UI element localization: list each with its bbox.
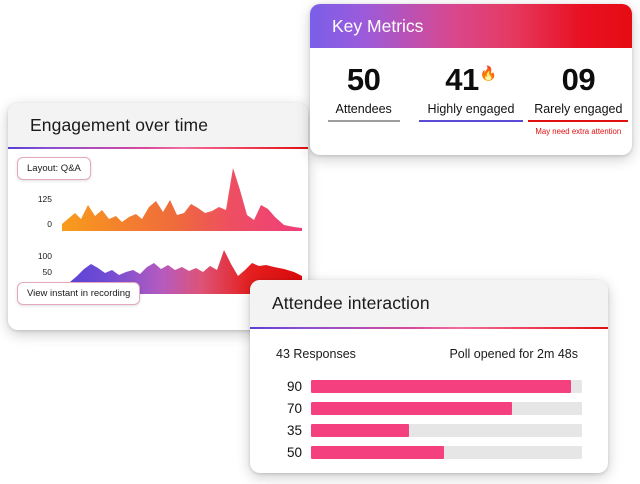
metric-highly-engaged: 41 🔥 Highly engaged (417, 64, 524, 155)
poll-bar-value: 35 (276, 423, 302, 438)
metric-rarely-engaged-label: Rarely engaged (534, 102, 622, 116)
attendee-interaction-card: Attendee interaction 43 Responses Poll o… (250, 280, 608, 473)
poll-bar-fill (311, 380, 571, 393)
fire-icon: 🔥 (480, 66, 497, 80)
attendee-card-title: Attendee interaction (272, 293, 430, 314)
metric-attendees-value: 50 (347, 64, 380, 95)
view-instant-in-recording-button[interactable]: View instant in recording (17, 282, 140, 305)
attendee-card-body: 43 Responses Poll opened for 2m 48s 90 7… (250, 329, 608, 460)
key-metrics-header: Key Metrics (310, 4, 632, 48)
metric-rarely-engaged-underline (528, 120, 628, 122)
poll-bar-value: 90 (276, 379, 302, 394)
metric-highly-engaged-label: Highly engaged (428, 102, 515, 116)
bottom-chart-tick-50: 50 (26, 267, 52, 277)
poll-bar-row: 90 (276, 379, 582, 394)
poll-bar-track (311, 380, 582, 393)
metric-attendees-label: Attendees (336, 102, 392, 116)
top-chart-tick-0: 0 (26, 219, 52, 229)
top-area-chart (62, 163, 302, 231)
key-metrics-card: Key Metrics 50 Attendees 41 🔥 Highly eng… (310, 4, 632, 155)
poll-bar-value: 70 (276, 401, 302, 416)
poll-bar-value: 50 (276, 445, 302, 460)
metric-rarely-engaged: 09 Rarely engaged May need extra attenti… (525, 64, 632, 155)
metric-highly-engaged-underline (419, 120, 523, 122)
attendee-meta-row: 43 Responses Poll opened for 2m 48s (276, 347, 582, 361)
key-metrics-title: Key Metrics (332, 16, 423, 37)
metric-attendees-underline (328, 120, 400, 122)
poll-bar-track (311, 402, 582, 415)
poll-bar-track (311, 424, 582, 437)
poll-bars-list: 90 70 35 50 (276, 379, 582, 460)
engagement-card-title: Engagement over time (30, 115, 208, 136)
layout-tooltip-pill[interactable]: Layout: Q&A (17, 157, 91, 180)
poll-bar-row: 70 (276, 401, 582, 416)
metric-rarely-engaged-note: May need extra attention (535, 127, 621, 136)
poll-bar-row: 35 (276, 423, 582, 438)
key-metrics-body: 50 Attendees 41 🔥 Highly engaged 09 Rare… (310, 48, 632, 155)
poll-bar-fill (311, 402, 512, 415)
metric-attendees: 50 Attendees (310, 64, 417, 155)
metric-rarely-engaged-value: 09 (562, 64, 595, 95)
poll-timer: Poll opened for 2m 48s (449, 347, 578, 361)
top-chart-tick-125: 125 (26, 194, 52, 204)
bottom-chart-tick-100: 100 (26, 251, 52, 261)
poll-bar-track (311, 446, 582, 459)
metric-highly-engaged-value: 41 (445, 64, 478, 95)
poll-bar-row: 50 (276, 445, 582, 460)
poll-bar-fill (311, 446, 444, 459)
attendee-card-header: Attendee interaction (250, 280, 608, 327)
poll-bar-fill (311, 424, 409, 437)
engagement-card-header: Engagement over time (8, 103, 308, 147)
responses-count: 43 Responses (276, 347, 356, 361)
metric-highly-engaged-value-group: 41 🔥 (445, 64, 496, 95)
